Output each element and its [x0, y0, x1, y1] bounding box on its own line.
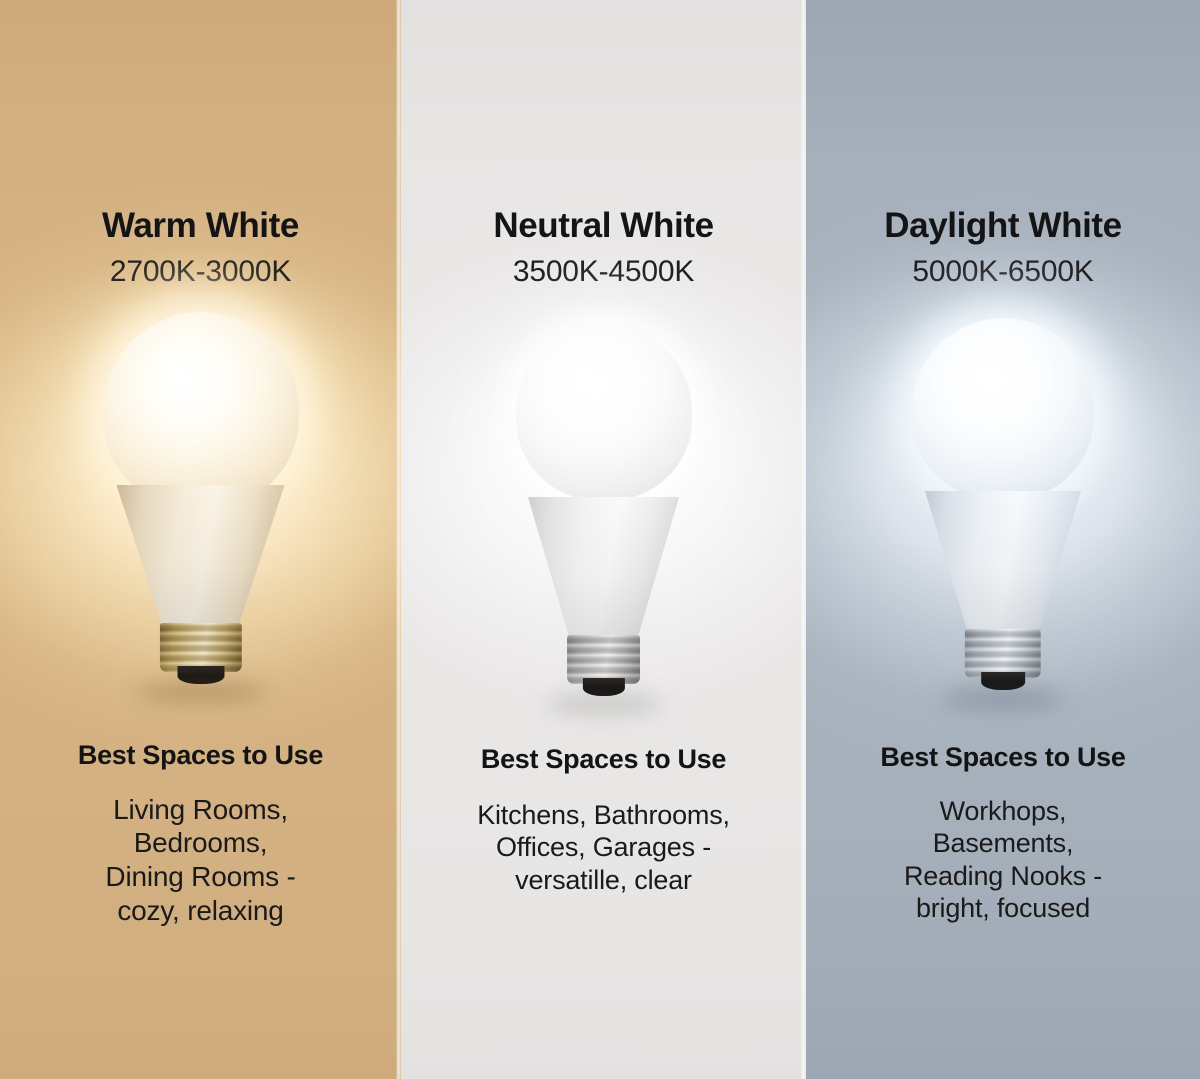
bulb-shadow-warm — [136, 681, 265, 703]
light-bulb-icon — [912, 318, 1094, 678]
panel-content-neutral: Neutral White 3500K-4500K Best Spaces to… — [401, 0, 806, 1079]
bulb-globe-neutral — [516, 324, 692, 500]
bulb-shadow-daylight — [943, 687, 1063, 709]
panel-content-warm: Warm White 2700K-3000K Best Spaces to Us… — [0, 0, 401, 1079]
panel-warm-white: Warm White 2700K-3000K Best Spaces to Us… — [0, 0, 401, 1079]
panel-neutral-white: Neutral White 3500K-4500K Best Spaces to… — [401, 0, 806, 1079]
panel-title-warm: Warm White — [102, 208, 299, 245]
bulb-neck-warm — [116, 485, 285, 629]
panel-kelvin-daylight: 5000K-6500K — [912, 255, 1093, 288]
panel-daylight-white: Daylight White 5000K-6500K Best Spaces t… — [806, 0, 1200, 1079]
bulb-stage-daylight — [806, 306, 1200, 726]
panel-spaces-daylight: Workhops, Basements, Reading Nooks - bri… — [904, 795, 1102, 925]
bulb-neck-daylight — [925, 491, 1082, 635]
bulb-specular-highlight-neutral — [561, 352, 600, 405]
bulb-globe-daylight — [912, 318, 1094, 500]
bulb-screw-base-neutral — [567, 635, 641, 684]
panel-spaces-warm: Living Rooms, Bedrooms, Dining Rooms - c… — [105, 793, 295, 927]
bulb-shadow-neutral — [545, 693, 661, 715]
panel-kelvin-neutral: 3500K-4500K — [513, 255, 694, 288]
bulb-specular-highlight-warm — [153, 343, 196, 402]
bulb-neck-neutral — [528, 497, 679, 641]
panel-subtitle-warm: Best Spaces to Use — [78, 740, 323, 771]
panel-spaces-neutral: Kitchens, Bathrooms, Offices, Garages - … — [477, 799, 730, 896]
bulb-globe-warm — [103, 312, 299, 508]
panel-title-daylight: Daylight White — [884, 208, 1121, 245]
panel-subtitle-daylight: Best Spaces to Use — [880, 742, 1125, 773]
bulb-specular-highlight-daylight — [959, 347, 999, 402]
bulb-screw-base-warm — [159, 623, 241, 672]
panel-subtitle-neutral: Best Spaces to Use — [481, 744, 726, 775]
light-bulb-color-temperature-infographic: Warm White 2700K-3000K Best Spaces to Us… — [0, 0, 1200, 1079]
bulb-screw-base-daylight — [965, 629, 1041, 678]
panel-content-daylight: Daylight White 5000K-6500K Best Spaces t… — [806, 0, 1200, 1079]
bulb-stage-neutral — [401, 306, 806, 726]
bulb-stage-warm — [0, 306, 401, 726]
light-bulb-icon — [516, 324, 692, 684]
light-bulb-icon — [103, 312, 299, 672]
panel-title-neutral: Neutral White — [493, 208, 713, 245]
